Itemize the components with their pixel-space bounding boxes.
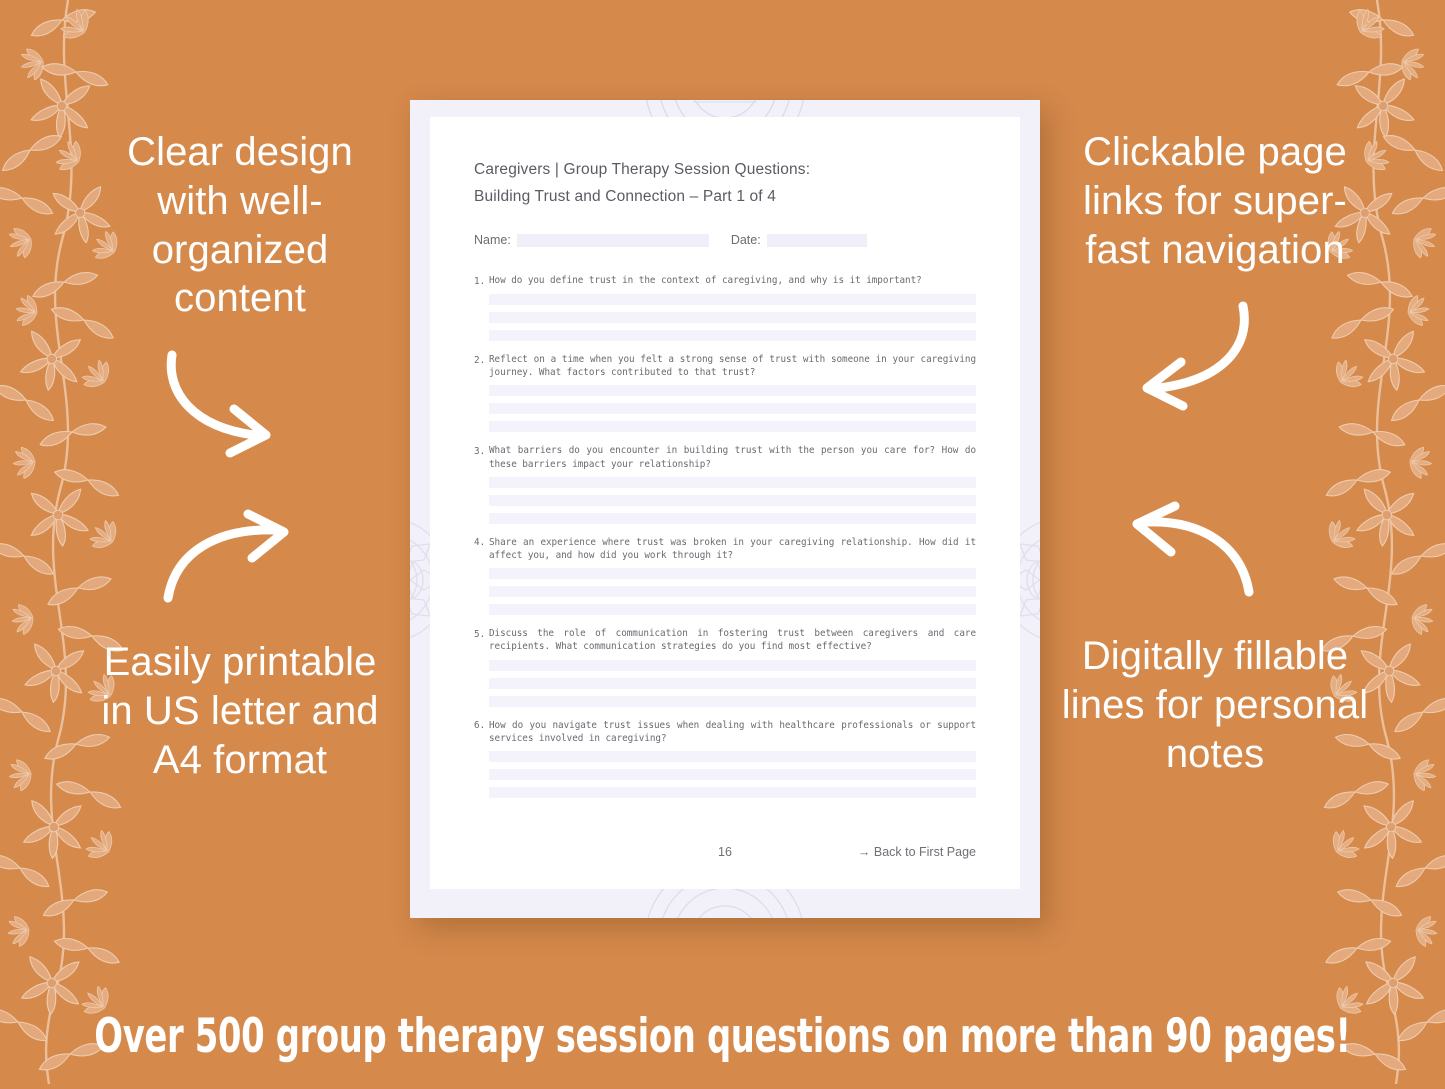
page-title-line1: Caregivers | Group Therapy Session Quest… [474,157,976,184]
callout-top-right: Clickable page links for super-fast navi… [1055,128,1375,408]
question-number: 1. [474,274,489,288]
callout-bottom-left: Easily printable in US letter and A4 for… [90,518,390,784]
answer-line[interactable] [489,696,976,707]
page-number: 16 [718,845,732,859]
question-block: 1. How do you define trust in the contex… [474,274,976,341]
page-title-line2: Building Trust and Connection – Part 1 o… [474,184,976,211]
back-to-first-page-link[interactable]: → Back to First Page [858,845,976,859]
name-date-row: Name: Date: [474,233,976,247]
question-block: 5. Discuss the role of communication in … [474,627,976,706]
question-text: How do you define trust in the context o… [489,274,976,288]
answer-line[interactable] [489,769,976,780]
answer-lines [474,477,976,524]
question-block: 6. How do you navigate trust issues when… [474,719,976,798]
answer-line[interactable] [489,477,976,488]
callout-top-left-text: Clear design with well-organized content [90,128,390,323]
question-number: 3. [474,444,489,470]
question-block: 3. What barriers do you encounter in bui… [474,444,976,523]
question-number: 2. [474,353,489,379]
curved-arrow-down-right-icon [90,347,390,457]
bottom-banner: Over 500 group therapy session questions… [0,988,1445,1084]
name-label: Name: [474,233,511,247]
page-title: Caregivers | Group Therapy Session Quest… [474,157,976,210]
answer-line[interactable] [489,751,976,762]
callout-bottom-right-text: Digitally fillable lines for personal no… [1055,632,1375,778]
callout-bottom-right: Digitally fillable lines for personal no… [1055,508,1375,778]
answer-line[interactable] [489,385,976,396]
answer-line[interactable] [489,604,976,615]
answer-line[interactable] [489,678,976,689]
question-text: How do you navigate trust issues when de… [489,719,976,745]
question-number: 4. [474,536,489,562]
answer-line[interactable] [489,586,976,597]
answer-lines [474,385,976,432]
question-text: What barriers do you encounter in buildi… [489,444,976,470]
name-input[interactable] [517,234,709,247]
question-block: 4. Share an experience where trust was b… [474,536,976,615]
question-text: Reflect on a time when you felt a strong… [489,353,976,379]
worksheet-sheet: Caregivers | Group Therapy Session Quest… [430,117,1020,889]
callout-top-left: Clear design with well-organized content [90,128,390,457]
answer-lines [474,660,976,707]
worksheet-page-frame[interactable]: Caregivers | Group Therapy Session Quest… [410,100,1040,918]
answer-line[interactable] [489,495,976,506]
curved-arrow-up-left-icon [1055,508,1375,604]
question-text: Share an experience where trust was brok… [489,536,976,562]
date-label: Date: [731,233,761,247]
curved-arrow-up-right-icon [90,518,390,610]
question-number: 5. [474,627,489,653]
answer-line[interactable] [489,330,976,341]
bottom-banner-text: Over 500 group therapy session questions… [94,1013,1350,1060]
answer-lines [474,751,976,798]
curved-arrow-down-left-icon [1055,298,1375,408]
question-number: 6. [474,719,489,745]
date-input[interactable] [767,234,867,247]
answer-line[interactable] [489,568,976,579]
question-block: 2. Reflect on a time when you felt a str… [474,353,976,432]
answer-line[interactable] [489,660,976,671]
answer-line[interactable] [489,787,976,798]
page-footer: 16 → Back to First Page [474,845,976,865]
answer-line[interactable] [489,403,976,414]
answer-line[interactable] [489,421,976,432]
answer-line[interactable] [489,513,976,524]
answer-lines [474,568,976,615]
answer-line[interactable] [489,294,976,305]
answer-lines [474,294,976,341]
callout-top-right-text: Clickable page links for super-fast navi… [1055,128,1375,274]
callout-bottom-left-text: Easily printable in US letter and A4 for… [90,638,390,784]
answer-line[interactable] [489,312,976,323]
question-text: Discuss the role of communication in fos… [489,627,976,653]
